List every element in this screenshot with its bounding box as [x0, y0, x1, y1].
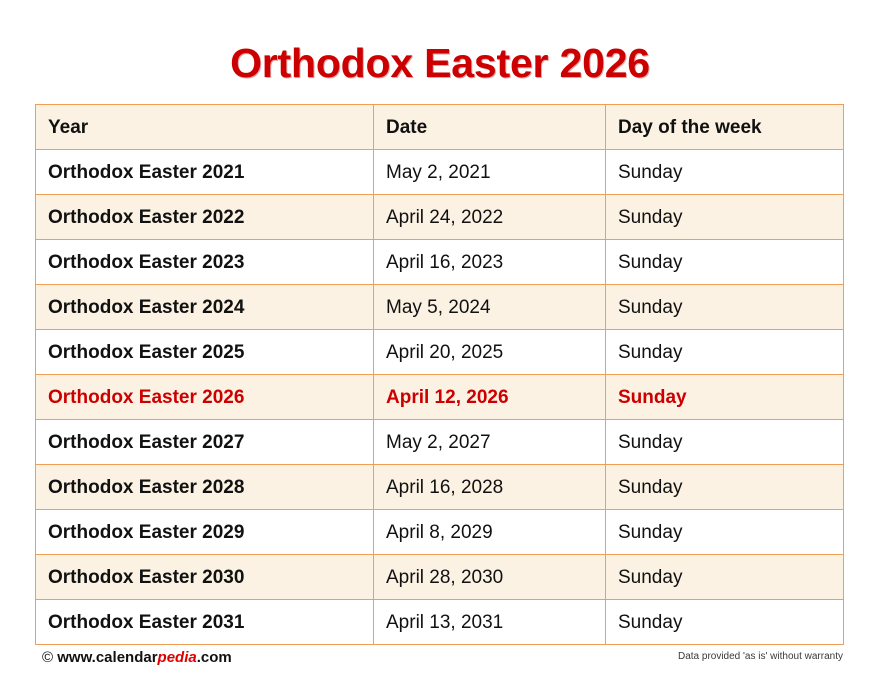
cell-day: Sunday: [606, 150, 844, 195]
column-header-day: Day of the week: [606, 105, 844, 150]
cell-date: April 28, 2030: [374, 555, 606, 600]
cell-date: April 8, 2029: [374, 510, 606, 555]
cell-year: Orthodox Easter 2029: [36, 510, 374, 555]
page-title: Orthodox Easter 2026: [0, 27, 880, 84]
cell-day: Sunday: [606, 555, 844, 600]
table-row: Orthodox Easter 2027May 2, 2027Sunday: [36, 420, 844, 465]
cell-date: April 24, 2022: [374, 195, 606, 240]
cell-day: Sunday: [606, 510, 844, 555]
cell-year: Orthodox Easter 2025: [36, 330, 374, 375]
table-row: Orthodox Easter 2021May 2, 2021Sunday: [36, 150, 844, 195]
calendarpedia-page: Orthodox Easter 2026 Year Date Day of th…: [0, 27, 880, 687]
cell-day: Sunday: [606, 600, 844, 645]
cell-year: Orthodox Easter 2030: [36, 555, 374, 600]
table-row: Orthodox Easter 2024May 5, 2024Sunday: [36, 285, 844, 330]
cell-day: Sunday: [606, 330, 844, 375]
cell-year: Orthodox Easter 2026: [36, 375, 374, 420]
cell-day: Sunday: [606, 195, 844, 240]
cell-year: Orthodox Easter 2021: [36, 150, 374, 195]
cell-date: May 2, 2021: [374, 150, 606, 195]
copyright-text-part2: .com: [197, 649, 232, 666]
table-row: Orthodox Easter 2022April 24, 2022Sunday: [36, 195, 844, 240]
cell-date: April 13, 2031: [374, 600, 606, 645]
table-row: Orthodox Easter 2029April 8, 2029Sunday: [36, 510, 844, 555]
cell-day: Sunday: [606, 285, 844, 330]
footer: © www.calendarpedia.com Data provided 'a…: [35, 649, 843, 673]
cell-day: Sunday: [606, 465, 844, 510]
disclaimer-text: Data provided 'as is' without warranty: [678, 651, 843, 662]
cell-day: Sunday: [606, 375, 844, 420]
cell-year: Orthodox Easter 2028: [36, 465, 374, 510]
cell-day: Sunday: [606, 240, 844, 285]
copyright-icon: ©: [42, 649, 53, 666]
table-row: Orthodox Easter 2025April 20, 2025Sunday: [36, 330, 844, 375]
cell-year: Orthodox Easter 2022: [36, 195, 374, 240]
cell-date: May 5, 2024: [374, 285, 606, 330]
easter-dates-table: Year Date Day of the week Orthodox Easte…: [35, 104, 844, 645]
table-row: Orthodox Easter 2030April 28, 2030Sunday: [36, 555, 844, 600]
table-row: Orthodox Easter 2031April 13, 2031Sunday: [36, 600, 844, 645]
cell-date: April 16, 2028: [374, 465, 606, 510]
cell-day: Sunday: [606, 420, 844, 465]
copyright-notice: © www.calendarpedia.com: [42, 649, 232, 666]
cell-date: April 20, 2025: [374, 330, 606, 375]
cell-year: Orthodox Easter 2027: [36, 420, 374, 465]
cell-date: April 12, 2026: [374, 375, 606, 420]
cell-date: May 2, 2027: [374, 420, 606, 465]
table-row: Orthodox Easter 2023April 16, 2023Sunday: [36, 240, 844, 285]
table-header-row: Year Date Day of the week: [36, 105, 844, 150]
table-row: Orthodox Easter 2028April 16, 2028Sunday: [36, 465, 844, 510]
cell-year: Orthodox Easter 2024: [36, 285, 374, 330]
cell-year: Orthodox Easter 2031: [36, 600, 374, 645]
easter-dates-table-wrap: Year Date Day of the week Orthodox Easte…: [35, 104, 843, 645]
cell-year: Orthodox Easter 2023: [36, 240, 374, 285]
brand-name: pedia: [158, 649, 197, 666]
table-row: Orthodox Easter 2026April 12, 2026Sunday: [36, 375, 844, 420]
table-body: Orthodox Easter 2021May 2, 2021SundayOrt…: [36, 150, 844, 645]
cell-date: April 16, 2023: [374, 240, 606, 285]
column-header-date: Date: [374, 105, 606, 150]
copyright-text-part1: www.calendar: [53, 649, 157, 666]
table-header: Year Date Day of the week: [36, 105, 844, 150]
column-header-year: Year: [36, 105, 374, 150]
